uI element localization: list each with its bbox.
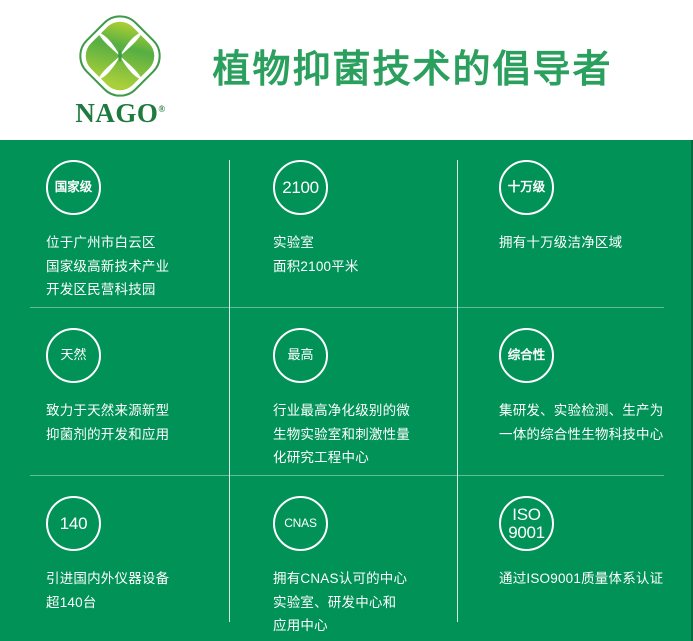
strength-text-9: 通过ISO9001质量体系认证 xyxy=(499,567,693,591)
strength-badge-9: ISO 9001 xyxy=(499,496,554,551)
strength-text-5: 行业最高净化级别的微 生物实验室和刺激性量 化研究工程中心 xyxy=(273,399,457,470)
strength-badge-8: CNAS xyxy=(273,496,328,551)
strength-cell-9: ISO 9001 通过ISO9001质量体系认证 xyxy=(457,476,693,641)
strength-badge-label-3: 十万级 xyxy=(508,181,546,194)
strength-text-3: 拥有十万级洁净区域 xyxy=(499,231,693,255)
strength-text-1: 位于广州市白云区 国家级高新技术产业 开发区民营科技园 xyxy=(46,231,229,302)
strength-badge-label-4: 天然 xyxy=(60,348,86,363)
logo-wordmark-text: NAGO xyxy=(75,98,158,128)
strength-cell-1: 国家级 位于广州市白云区 国家级高新技术产业 开发区民营科技园 xyxy=(0,140,229,308)
company-strengths-infographic: NAGO® 植物抑菌技术的倡导者 国家级 位于广州市白云区 国家级高新技术产业 … xyxy=(0,0,693,641)
strength-badge-1: 国家级 xyxy=(46,160,101,215)
strength-badge-label-9: ISO 9001 xyxy=(508,506,545,542)
strength-cell-4: 天然 致力于天然来源新型 抑菌剂的开发和应用 xyxy=(0,308,229,476)
strength-badge-label-6: 综合性 xyxy=(508,349,546,362)
strength-badge-label-8: CNAS xyxy=(284,517,317,530)
page-title: 植物抑菌技术的倡导者 xyxy=(212,51,612,89)
strength-badge-4: 天然 xyxy=(46,328,101,383)
strength-cell-7: 140 引进国内外仪器设备 超140台 xyxy=(0,476,229,641)
strength-text-2: 实验室 面积2100平米 xyxy=(273,231,457,278)
strengths-grid: 国家级 位于广州市白云区 国家级高新技术产业 开发区民营科技园 2100 实验室… xyxy=(0,140,693,641)
strength-text-7: 引进国内外仪器设备 超140台 xyxy=(46,567,229,614)
logo-wordmark: NAGO® xyxy=(75,100,165,127)
strength-badge-label-1: 国家级 xyxy=(55,181,93,194)
strength-text-4: 致力于天然来源新型 抑菌剂的开发和应用 xyxy=(46,399,229,446)
registered-trademark-icon: ® xyxy=(158,104,165,114)
brand-logo: NAGO® xyxy=(64,13,176,127)
header-inner: NAGO® 植物抑菌技术的倡导者 xyxy=(64,13,612,127)
strength-badge-6: 综合性 xyxy=(499,328,554,383)
strength-badge-7: 140 xyxy=(46,496,101,551)
strength-badge-2: 2100 xyxy=(273,160,328,215)
strength-badge-label-5: 最高 xyxy=(287,348,313,363)
strength-cell-6: 综合性 集研发、实验检测、生产为 一体的综合性生物科技中心 xyxy=(457,308,693,476)
strength-cell-8: CNAS 拥有CNAS认可的中心 实验室、研发中心和 应用中心 xyxy=(229,476,457,641)
strength-cell-2: 2100 实验室 面积2100平米 xyxy=(229,140,457,308)
page-header: NAGO® 植物抑菌技术的倡导者 xyxy=(0,0,693,140)
strength-cell-3: 十万级 拥有十万级洁净区域 xyxy=(457,140,693,308)
strength-text-6: 集研发、实验检测、生产为 一体的综合性生物科技中心 xyxy=(499,399,693,446)
strength-cell-5: 最高 行业最高净化级别的微 生物实验室和刺激性量 化研究工程中心 xyxy=(229,308,457,476)
nago-flower-logo-icon xyxy=(77,13,163,99)
strength-badge-label-2: 2100 xyxy=(282,179,319,197)
strength-badge-label-7: 140 xyxy=(60,515,87,533)
strength-badge-3: 十万级 xyxy=(499,160,554,215)
strengths-panel: 国家级 位于广州市白云区 国家级高新技术产业 开发区民营科技园 2100 实验室… xyxy=(0,140,693,641)
strength-text-8: 拥有CNAS认可的中心 实验室、研发中心和 应用中心 xyxy=(273,567,457,638)
strength-badge-5: 最高 xyxy=(273,328,328,383)
